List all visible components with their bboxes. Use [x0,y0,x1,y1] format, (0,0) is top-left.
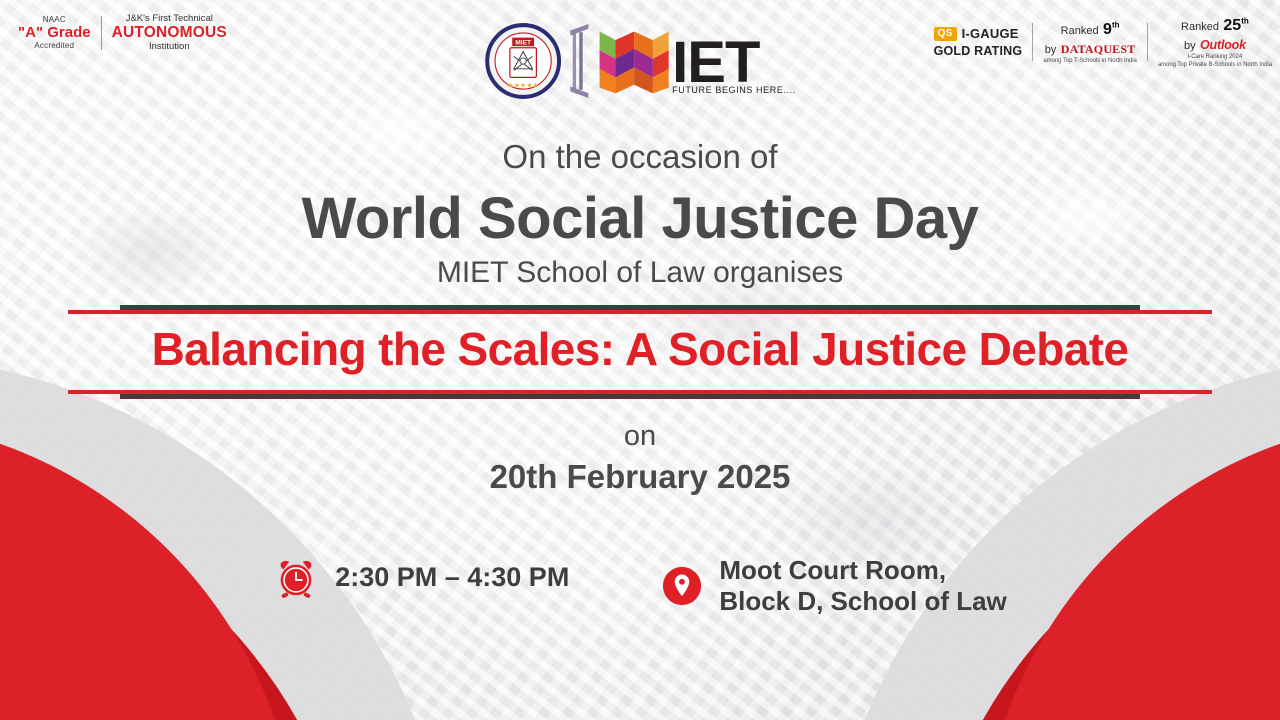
autonomous-badge: J&K's First Technical AUTONOMOUS Institu… [112,14,227,52]
autonomous-label: AUTONOMOUS [112,25,227,41]
venue-line-2: Block D, School of Law [719,586,1006,617]
outlook-prefix: Ranked [1181,21,1219,33]
ranking-qs-i-gauge: QS I-GAUGE GOLD RATING [934,27,1023,58]
miet-letters: IET [672,36,796,89]
poster-header: NAAC "A" Grade Accredited J&K's First Te… [0,0,1280,122]
dataquest-rank: 9 [1103,21,1112,38]
dataquest-ordinal: th [1112,20,1120,29]
venue-line-1: Moot Court Room, [719,555,1006,586]
event-poster: NAAC "A" Grade Accredited J&K's First Te… [0,0,1280,720]
event-day-title: World Social Justice Day [0,185,1280,252]
qs-gold-rating: GOLD RATING [934,44,1023,58]
dataquest-source: DATAQUEST [1061,42,1136,56]
rankings-block: QS I-GAUGE GOLD RATING Ranked 9th by DAT… [934,16,1272,69]
naac-label: NAAC [18,16,91,24]
svg-text:MIET: MIET [515,40,531,47]
outlook-source: Outlook [1200,38,1246,52]
svg-text:★★★★★: ★★★★★ [507,81,538,90]
autonomous-line1: J&K's First Technical [112,14,227,24]
outlook-note-1: I-Care Ranking 2024 [1158,54,1272,61]
dataquest-note: among Top T-Schools in North India [1043,58,1136,65]
dataquest-source-line: by DATAQUEST [1043,39,1136,58]
qs-row: QS I-GAUGE [934,27,1023,42]
rule-red-top [68,310,1212,314]
ranking-dataquest: Ranked 9th by DATAQUEST among Top T-Scho… [1043,20,1136,66]
rule-dark-bottom [120,394,1140,399]
naac-badge: NAAC "A" Grade Accredited [18,16,91,51]
ranking-divider-2 [1147,23,1148,61]
miet-text-block: IET FUTURE BEGINS HERE.... [672,36,796,95]
ranking-divider-1 [1032,23,1033,61]
miet-wordmark: IET FUTURE BEGINS HERE.... [598,27,796,95]
qs-name: I-GAUGE [962,27,1019,42]
organiser-line: MIET School of Law organises [0,256,1280,290]
header-divider [101,16,102,50]
accreditation-block: NAAC "A" Grade Accredited J&K's First Te… [18,14,227,52]
outlook-rank-line: Ranked 25th [1158,16,1272,35]
occasion-label: On the occasion of [0,138,1280,176]
outlook-ordinal: th [1241,17,1249,26]
dataquest-prefix: Ranked [1061,25,1099,37]
event-date: 20th February 2025 [0,458,1280,496]
event-time-block: 2:30 PM – 4:30 PM [273,555,569,601]
pillar-divider-icon [570,24,590,98]
outlook-by: by [1184,40,1196,52]
on-label: on [0,420,1280,453]
qs-logo-badge: QS [934,27,957,41]
miet-tagline: FUTURE BEGINS HERE.... [672,85,796,95]
dataquest-by: by [1045,44,1057,56]
outlook-rank: 25 [1223,17,1241,34]
outlook-source-line: by Outlook [1158,35,1272,54]
dataquest-rank-line: Ranked 9th [1043,20,1136,39]
autonomous-line3: Institution [112,42,227,52]
ranking-outlook: Ranked 25th by Outlook I-Care Ranking 20… [1158,16,1272,69]
miet-m-mark-icon [598,27,670,95]
event-venue-block: Moot Court Room, Block D, School of Law [661,555,1006,616]
event-time-text: 2:30 PM – 4:30 PM [335,562,569,594]
outlook-note-2: among Top Private B-Schools in North Ind… [1158,62,1272,69]
naac-accredited: Accredited [18,42,91,50]
naac-grade: "A" Grade [18,25,91,41]
event-venue-text: Moot Court Room, Block D, School of Law [719,555,1006,616]
miet-crest-icon: MODEL INSTITUTE OF ENG MIET ★★★★★ [484,22,562,100]
event-details-row: 2:30 PM – 4:30 PM Moot Court Room, Block… [0,555,1280,616]
event-headline: Balancing the Scales: A Social Justice D… [0,316,1280,383]
location-pin-icon [661,565,703,607]
alarm-clock-icon [273,555,319,601]
headline-band: Balancing the Scales: A Social Justice D… [0,305,1280,405]
miet-logo-lockup: MODEL INSTITUTE OF ENG MIET ★★★★★ [484,22,796,100]
